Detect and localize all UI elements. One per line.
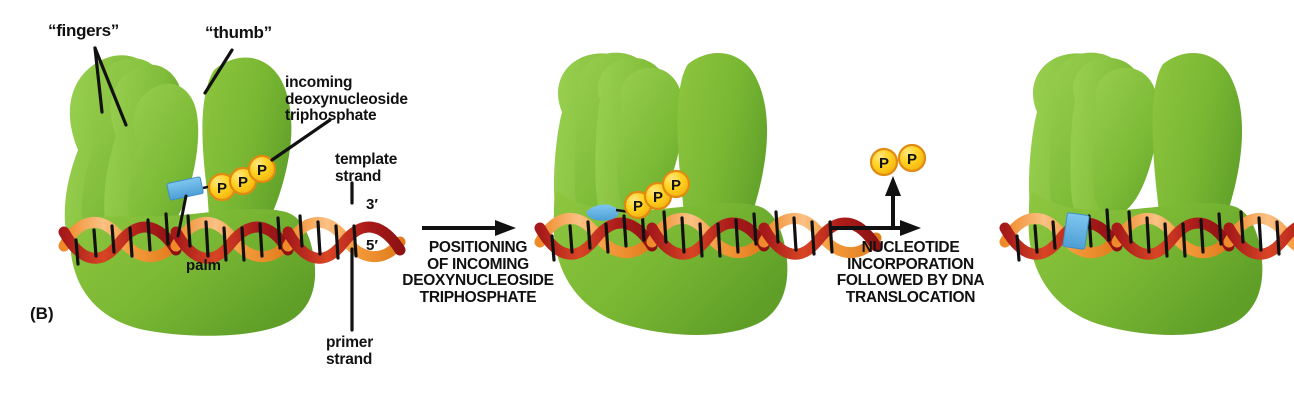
label-incoming-dntp: incoming deoxynucleoside triphosphate [285, 75, 408, 125]
svg-text:P: P [671, 177, 681, 194]
svg-text:P: P [238, 174, 248, 191]
step-2-arrow-label: NUCLEOTIDE INCORPORATION FOLLOWED BY DNA… [818, 240, 1003, 306]
label-fingers: “fingers” [48, 22, 119, 40]
label-template-strand: template strand [335, 152, 397, 185]
label-palm: palm [186, 258, 221, 274]
svg-text:P: P [217, 180, 227, 197]
panel-label: (B) [30, 305, 54, 323]
label-thumb: “thumb” [205, 24, 272, 42]
svg-text:P: P [653, 189, 663, 206]
svg-text:P: P [633, 198, 643, 215]
step-1-arrow-label: POSITIONING OF INCOMING DEOXYNUCLEOSIDE … [388, 240, 568, 306]
label-five-prime: 5′ [366, 238, 378, 254]
incorporated-nucleotide [1063, 213, 1090, 250]
label-primer-strand: primer strand [326, 335, 373, 368]
released-pyrophosphate: P P [871, 145, 925, 175]
arrow-positioning [422, 220, 516, 236]
label-three-prime: 3′ [366, 197, 378, 213]
svg-text:P: P [879, 155, 889, 172]
svg-text:P: P [907, 151, 917, 168]
dna-polymerase-diagram: P P P [0, 0, 1294, 400]
figure-canvas: P P P [0, 0, 1294, 400]
panel-translocated [1005, 53, 1294, 335]
svg-text:P: P [257, 162, 267, 179]
